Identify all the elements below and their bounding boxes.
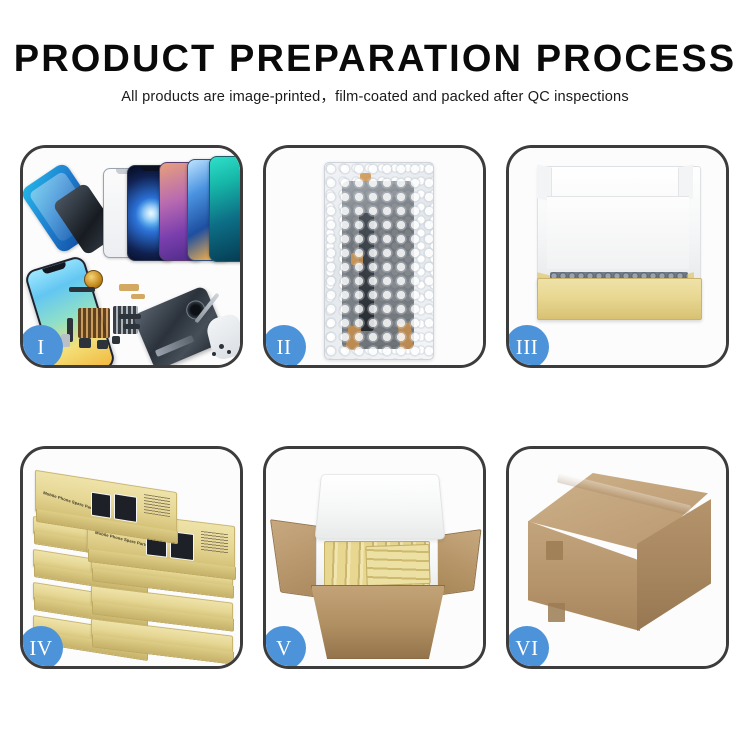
process-panel-grid: I II III	[20, 145, 730, 669]
part-gold-flex-icon	[119, 284, 139, 291]
part-buzzer-icon	[97, 340, 108, 349]
page-header: PRODUCT PREPARATION PROCESS All products…	[0, 0, 750, 107]
panel-badge-6: VI	[506, 626, 549, 669]
box-label-back: Mobile Phone Spare Parts	[43, 490, 96, 511]
panel-badge-5: V	[263, 626, 306, 669]
retail-box-printed-back: Mobile Phone Spare Parts	[35, 470, 177, 534]
panel-badge-4: IV	[20, 626, 63, 669]
process-panel-6[interactable]: VI	[506, 446, 729, 669]
box-spec-text	[201, 531, 228, 554]
process-panel-1[interactable]: I	[20, 145, 243, 368]
foam-lid-icon	[315, 474, 446, 540]
panel-badge-1: I	[20, 325, 63, 368]
carton-tape-patch-2	[548, 603, 565, 622]
lid-inner-panel	[547, 196, 689, 269]
part-speaker-icon	[79, 338, 91, 348]
carton-tape-patch-1	[546, 541, 563, 560]
battery-strip-icon	[155, 335, 195, 357]
page-subtitle: All products are image-printed，film-coat…	[0, 87, 750, 107]
process-panel-5[interactable]: V	[263, 446, 486, 669]
kraft-box-base-icon	[537, 278, 702, 320]
retail-box-stack: Mobile Phone Spare Parts Mobile Phone Sp…	[29, 463, 241, 659]
carton-body-icon	[311, 585, 445, 659]
part-ribbon-icon	[119, 314, 141, 319]
process-panel-4[interactable]: Mobile Phone Spare Parts Mobile Phone Sp…	[20, 446, 243, 669]
bubble-wrap-bag-icon	[324, 162, 434, 360]
box-window-4	[114, 493, 137, 523]
notch-icon	[42, 262, 67, 275]
packed-retail-boxes-2-icon	[365, 544, 430, 586]
panel-badge-2: II	[263, 325, 306, 368]
chip-grid-icon	[78, 308, 110, 338]
box-window-3	[91, 492, 111, 519]
box-side	[92, 634, 234, 664]
part-chip-small-icon	[112, 336, 120, 344]
phone-teal-icon	[209, 156, 243, 262]
panel-badge-3: III	[506, 325, 549, 368]
screw-2-icon	[227, 350, 231, 354]
process-panel-3[interactable]: III	[506, 145, 729, 368]
process-panel-2[interactable]: II	[263, 145, 486, 368]
box-spec-text-2	[144, 494, 170, 517]
screw-3-icon	[212, 352, 216, 356]
page-title: PRODUCT PREPARATION PROCESS	[0, 38, 750, 80]
part-ribbon2-icon	[123, 324, 140, 329]
bubble-texture-overlay	[325, 163, 433, 359]
part-connector-icon	[69, 287, 95, 292]
notch-icon	[141, 166, 161, 171]
part-gold-strip-icon	[131, 294, 145, 299]
screw-icon	[219, 344, 224, 349]
